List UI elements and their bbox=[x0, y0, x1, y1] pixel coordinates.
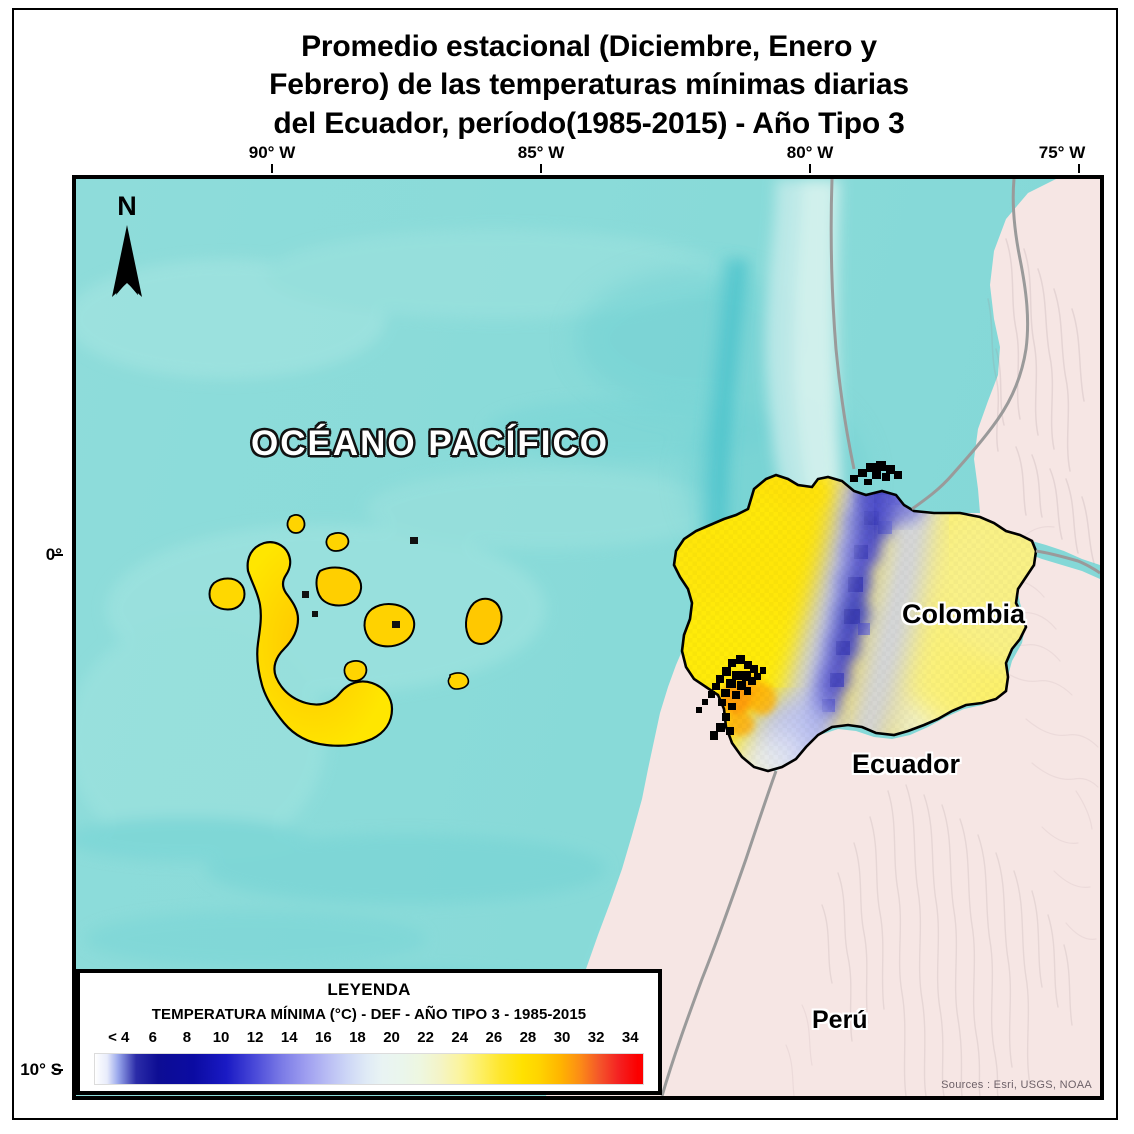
ocean-label: OCÉANO PACÍFICO bbox=[251, 424, 609, 464]
lon-tick-75w bbox=[1078, 164, 1080, 173]
legend-tick-14: 14 bbox=[281, 1029, 298, 1046]
map-graphic bbox=[76, 179, 1100, 1096]
legend-tick-28: 28 bbox=[520, 1029, 537, 1046]
lon-label-75w: 75° W bbox=[1039, 143, 1085, 163]
legend-tick-10: 10 bbox=[213, 1029, 230, 1046]
country-label-colombia: Colombia bbox=[902, 599, 1025, 630]
legend-tick-24: 24 bbox=[451, 1029, 468, 1046]
legend-tick-22: 22 bbox=[417, 1029, 434, 1046]
legend-tick-12: 12 bbox=[247, 1029, 264, 1046]
legend-tick-18: 18 bbox=[349, 1029, 366, 1046]
north-arrow: N bbox=[104, 193, 150, 303]
title-line-3: del Ecuador, período(1985-2015) - Año Ti… bbox=[194, 105, 984, 143]
lat-tick-10s bbox=[54, 1069, 63, 1071]
north-arrow-letter: N bbox=[104, 193, 150, 220]
page-title: Promedio estacional (Diciembre, Enero y … bbox=[194, 28, 984, 143]
map-frame[interactable]: N OCÉANO PACÍFICO Colombia Ecuador Perú … bbox=[72, 175, 1104, 1100]
page-frame: Promedio estacional (Diciembre, Enero y … bbox=[12, 8, 1118, 1120]
country-label-ecuador: Ecuador bbox=[852, 749, 960, 780]
legend-tick-4: < 4 bbox=[108, 1029, 129, 1046]
legend-tick-26: 26 bbox=[486, 1029, 503, 1046]
legend-tick-30: 30 bbox=[554, 1029, 571, 1046]
lon-label-90w: 90° W bbox=[249, 143, 295, 163]
sources-credit: Sources : Esri, USGS, NOAA bbox=[941, 1079, 1092, 1091]
lon-label-85w: 85° W bbox=[518, 143, 564, 163]
north-arrow-glyph bbox=[104, 223, 150, 301]
lon-tick-90w bbox=[271, 164, 273, 173]
lon-tick-80w bbox=[809, 164, 811, 173]
legend: LEYENDA TEMPERATURA MÍNIMA (°C) - DEF - … bbox=[76, 969, 662, 1095]
map-canvas[interactable] bbox=[76, 179, 1100, 1096]
lon-tick-85w bbox=[540, 164, 542, 173]
legend-tick-labels: < 46810121416182022242628303234 bbox=[94, 1029, 644, 1051]
title-line-2: Febrero) de las temperaturas mínimas dia… bbox=[194, 66, 984, 104]
legend-title: LEYENDA bbox=[80, 980, 658, 1000]
legend-tick-20: 20 bbox=[383, 1029, 400, 1046]
legend-tick-8: 8 bbox=[183, 1029, 191, 1046]
country-label-peru: Perú bbox=[812, 1006, 868, 1035]
lat-tick-0 bbox=[54, 554, 63, 556]
legend-tick-34: 34 bbox=[622, 1029, 639, 1046]
legend-tick-16: 16 bbox=[315, 1029, 332, 1046]
legend-subtitle: TEMPERATURA MÍNIMA (°C) - DEF - AÑO TIPO… bbox=[80, 1006, 658, 1023]
lon-label-80w: 80° W bbox=[787, 143, 833, 163]
legend-colorbar bbox=[94, 1053, 644, 1085]
title-line-1: Promedio estacional (Diciembre, Enero y bbox=[194, 28, 984, 66]
legend-tick-6: 6 bbox=[149, 1029, 157, 1046]
legend-tick-32: 32 bbox=[588, 1029, 605, 1046]
